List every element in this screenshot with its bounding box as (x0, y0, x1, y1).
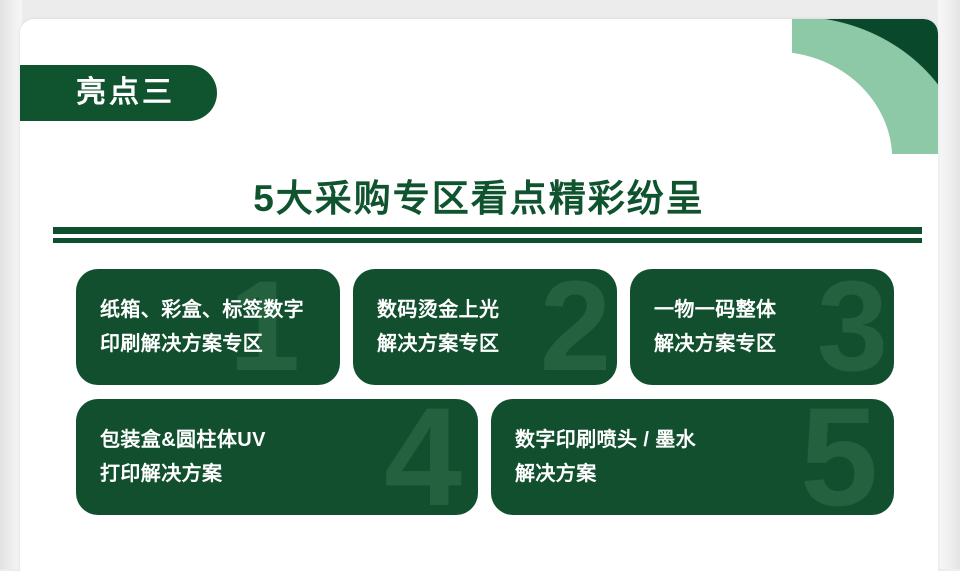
poster-stage: 亮点三 5大采购专区看点精彩纷呈 1 纸箱、彩盒、标签数字 印刷解决方案专区 2… (0, 0, 960, 569)
poster-sheet: 亮点三 5大采购专区看点精彩纷呈 1 纸箱、彩盒、标签数字 印刷解决方案专区 2… (20, 19, 938, 571)
zone-card-grid: 1 纸箱、彩盒、标签数字 印刷解决方案专区 2 数码烫金上光 解决方案专区 3 … (76, 269, 894, 515)
zone-card[interactable]: 4 包装盒&圆柱体UV 打印解决方案 (76, 399, 478, 515)
zone-card-line-2: 印刷解决方案专区 (100, 327, 340, 361)
zone-card-line-2: 解决方案 (515, 457, 894, 491)
zone-card-line-2: 解决方案专区 (654, 327, 894, 361)
corner-decoration (792, 19, 938, 154)
zone-card-line-1: 包装盒&圆柱体UV (100, 423, 478, 457)
section-badge-label: 亮点三 (76, 78, 175, 108)
zone-card-line-1: 数字印刷喷头 / 墨水 (515, 423, 894, 457)
divider-line-thick (53, 227, 922, 234)
page-edge-left-shadow (0, 0, 22, 569)
zone-card[interactable]: 5 数字印刷喷头 / 墨水 解决方案 (491, 399, 894, 515)
corner-dark-wedge-icon (792, 19, 938, 154)
zone-card-line-1: 纸箱、彩盒、标签数字 (100, 293, 340, 327)
zone-card[interactable]: 1 纸箱、彩盒、标签数字 印刷解决方案专区 (76, 269, 340, 385)
divider-line-thin (53, 238, 922, 243)
page-title: 5大采购专区看点精彩纷呈 (20, 178, 938, 221)
zone-card[interactable]: 2 数码烫金上光 解决方案专区 (353, 269, 617, 385)
zone-card-row-top: 1 纸箱、彩盒、标签数字 印刷解决方案专区 2 数码烫金上光 解决方案专区 3 … (76, 269, 894, 385)
page-edge-right-shadow (938, 0, 960, 569)
section-badge: 亮点三 (20, 65, 217, 121)
zone-card-line-2: 打印解决方案 (100, 457, 478, 491)
zone-card-line-1: 数码烫金上光 (377, 293, 617, 327)
zone-card[interactable]: 3 一物一码整体 解决方案专区 (630, 269, 894, 385)
zone-card-row-bottom: 4 包装盒&圆柱体UV 打印解决方案 5 数字印刷喷头 / 墨水 解决方案 (76, 399, 894, 515)
zone-card-line-1: 一物一码整体 (654, 293, 894, 327)
zone-card-line-2: 解决方案专区 (377, 327, 617, 361)
divider (53, 227, 922, 243)
corner-light-crescent-icon (792, 19, 938, 154)
